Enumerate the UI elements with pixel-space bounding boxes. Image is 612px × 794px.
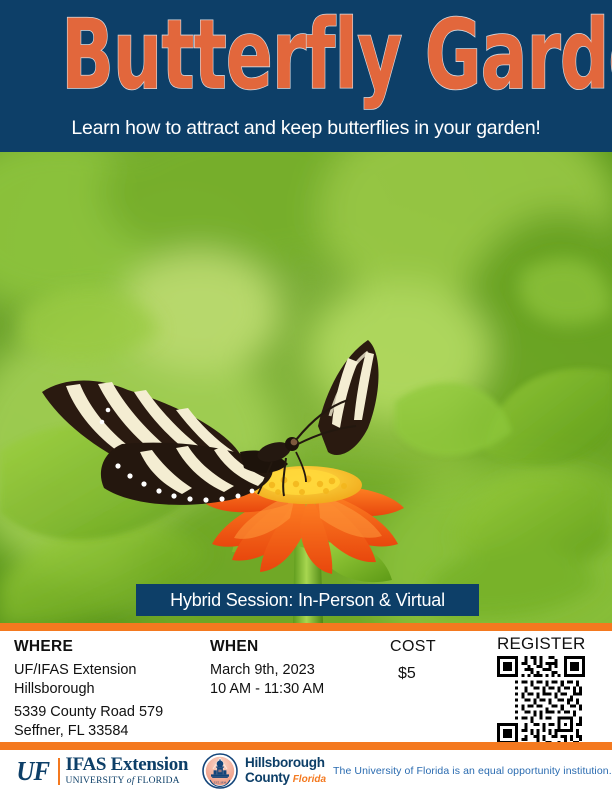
ifas-extension-text: IFAS Extension (66, 755, 189, 774)
where-line-2: Hillsborough (14, 680, 163, 699)
where-line-4: Seffner, FL 33584 (14, 722, 163, 741)
hybrid-session-banner: Hybrid Session: In-Person & Virtual (136, 584, 479, 616)
when-column: WHEN March 9th, 2023 10 AM - 11:30 AM (210, 631, 324, 699)
where-line-3: 5339 County Road 579 (14, 703, 163, 722)
equal-opportunity-statement: The University of Florida is an equal op… (333, 765, 612, 777)
florida-text: Florida (293, 774, 326, 785)
flyer-footer: UF IFAS Extension UNIVERSITY of FLORIDA (0, 750, 612, 792)
logo-divider (58, 758, 60, 785)
univ-word: UNIVERSITY (66, 776, 125, 786)
cost-heading: COST (390, 638, 436, 656)
county-line: CountyFlorida (245, 770, 326, 787)
hillsborough-text: Hillsborough (245, 756, 326, 770)
where-heading: WHERE (14, 638, 163, 656)
page-title: Butterfly Gardening (61, 0, 551, 114)
hillsborough-county-logo: EST. 1834 Hillsborough CountyFlorida (202, 753, 326, 789)
register-column[interactable]: REGISTER (492, 631, 586, 744)
hybrid-session-text: Hybrid Session: In-Person & Virtual (170, 590, 445, 611)
flyer-header: Butterfly Gardening Learn how to attract… (0, 0, 612, 152)
seal-year-text: EST. 1834 (214, 782, 226, 785)
register-heading: REGISTER (497, 634, 586, 654)
divider-orange-bottom (0, 742, 612, 750)
where-column: WHERE UF/IFAS Extension Hillsborough 533… (14, 631, 163, 741)
county-seal-icon: EST. 1834 (202, 753, 238, 789)
cost-value: $5 (398, 664, 436, 683)
uf-logo-text: IFAS Extension UNIVERSITY of FLORIDA (66, 755, 189, 787)
of-word: of (127, 776, 135, 786)
uf-ifas-extension-logo: UF IFAS Extension UNIVERSITY of FLORIDA (15, 755, 188, 787)
qr-code[interactable] (497, 656, 585, 744)
page-subtitle: Learn how to attract and keep butterflie… (0, 116, 612, 140)
uf-wordmark: UF (16, 758, 49, 785)
university-of-florida-text: UNIVERSITY of FLORIDA (66, 775, 189, 787)
when-heading: WHEN (210, 638, 324, 656)
hero-photo (0, 152, 612, 623)
where-line-1: UF/IFAS Extension (14, 661, 163, 680)
hillsborough-logo-text: Hillsborough CountyFlorida (245, 756, 326, 787)
florida-word: FLORIDA (137, 776, 180, 786)
when-line-1: March 9th, 2023 (210, 661, 324, 680)
cost-column: COST $5 (390, 631, 436, 683)
divider-orange-top (0, 623, 612, 631)
event-details: WHERE UF/IFAS Extension Hillsborough 533… (0, 631, 612, 742)
when-line-2: 10 AM - 11:30 AM (210, 680, 324, 699)
county-text: County (245, 770, 290, 785)
